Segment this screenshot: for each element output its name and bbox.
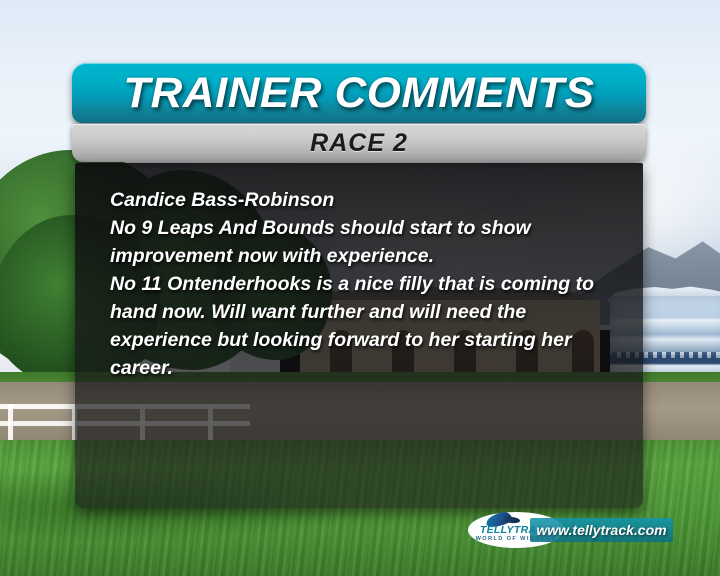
- website-url-text: www.tellytrack.com: [536, 522, 666, 538]
- website-url-pill[interactable]: www.tellytrack.com: [530, 518, 673, 542]
- header-title-bar: TRAINER COMMENTS: [72, 63, 646, 123]
- page-title: TRAINER COMMENTS: [123, 69, 594, 118]
- trainer-comments-graphic: TRAINER COMMENTS RACE 2 Candice Bass-Rob…: [0, 0, 720, 576]
- broadcaster-branding: TELLYTRACK WORLD OF WINNERS www.tellytra…: [468, 512, 673, 548]
- race-number-label: RACE 2: [310, 129, 408, 158]
- trainer-comment-text: Candice Bass-Robinson No 9 Leaps And Bou…: [110, 186, 630, 382]
- race-number-bar: RACE 2: [72, 124, 646, 162]
